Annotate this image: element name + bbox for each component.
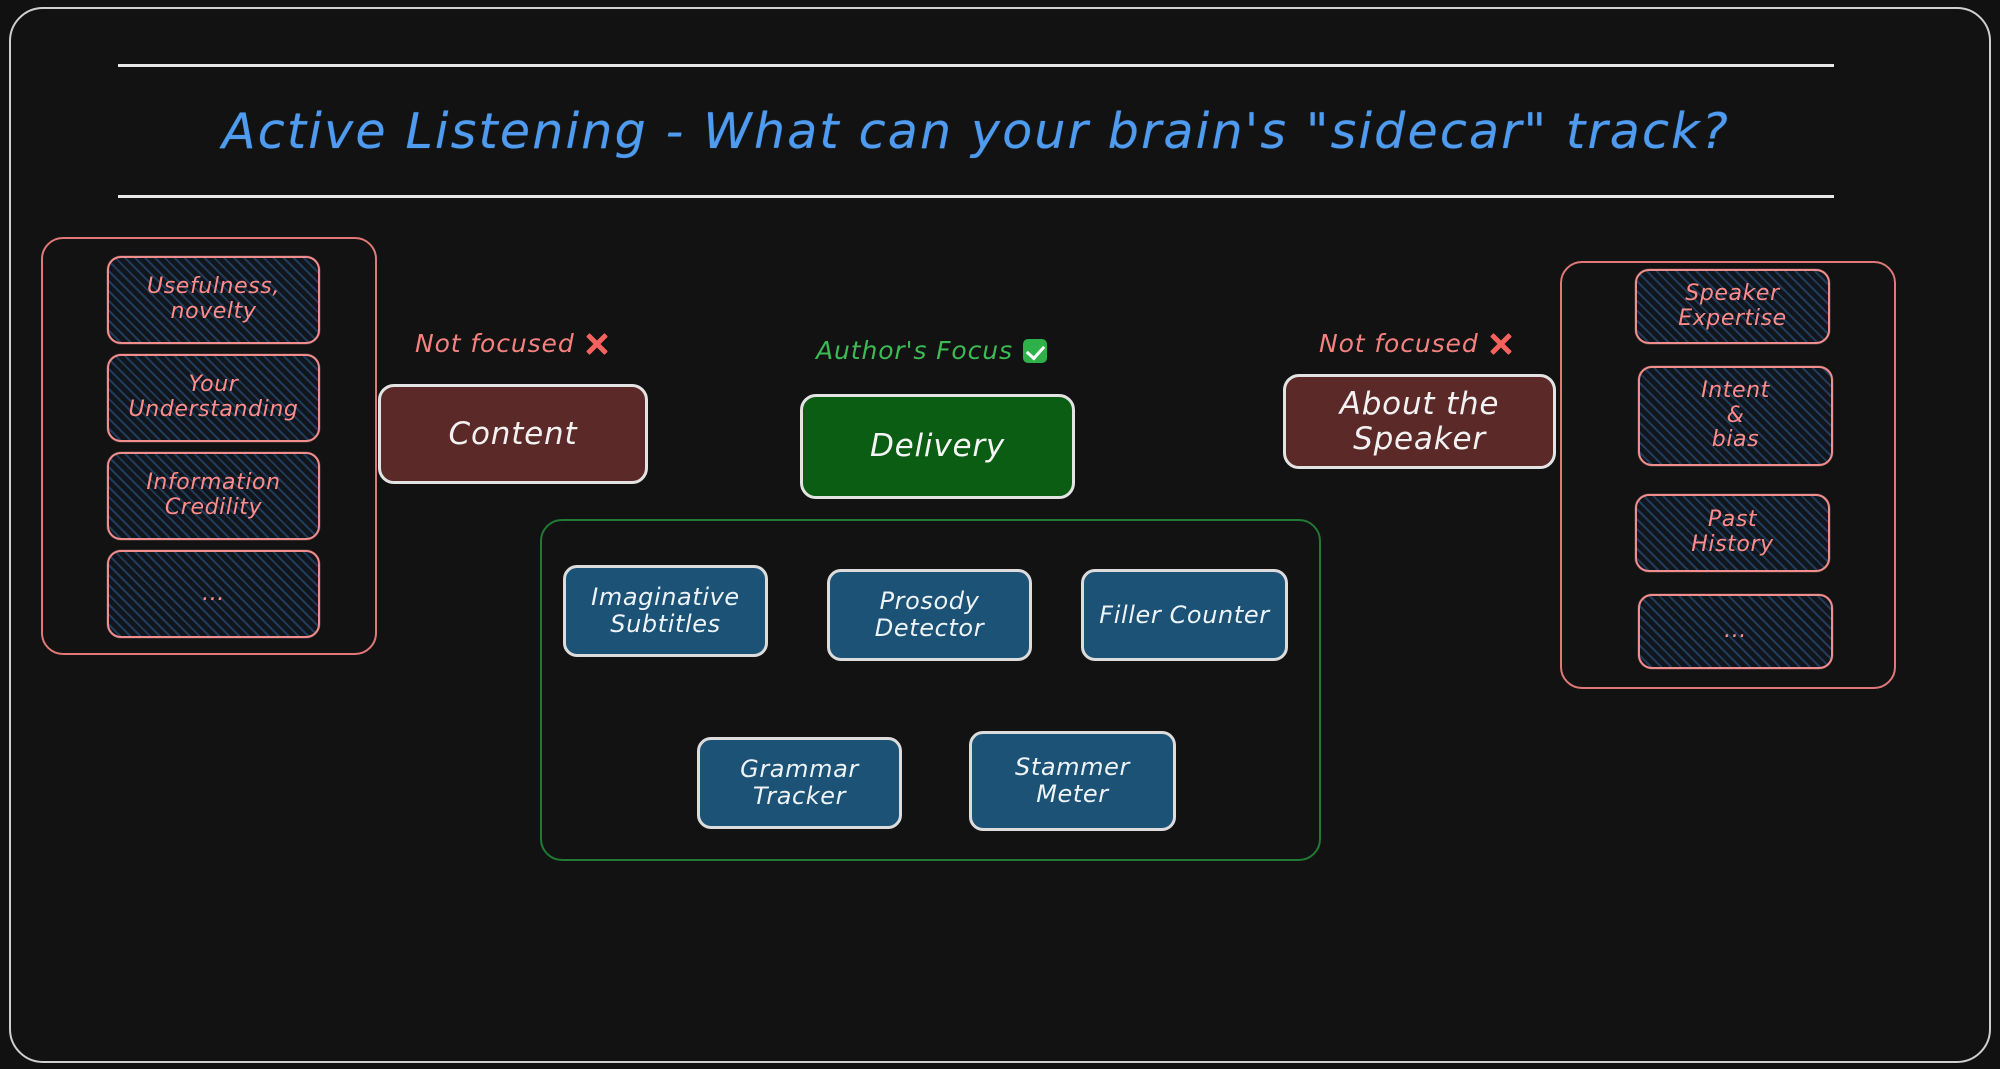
diagram-canvas: Active Listening - What can your brain's… <box>0 0 2000 1069</box>
delivery-caption-label: Author's Focus <box>816 336 1013 365</box>
speaker-caption: Not focused <box>1319 329 1513 358</box>
speaker-detail-box[interactable]: Past History <box>1635 494 1830 572</box>
delivery-feature-box[interactable]: Stammer Meter <box>969 731 1176 831</box>
speaker-caption-label: Not focused <box>1319 329 1479 358</box>
content-caption: Not focused <box>415 329 609 358</box>
cross-mark-icon <box>585 332 609 356</box>
cross-mark-icon <box>1489 332 1513 356</box>
speaker-detail-box-more[interactable]: ... <box>1638 594 1833 669</box>
delivery-feature-box[interactable]: Prosody Detector <box>827 569 1032 661</box>
delivery-category-box[interactable]: Delivery <box>800 394 1075 499</box>
content-category-box[interactable]: Content <box>378 384 648 484</box>
page-title: Active Listening - What can your brain's… <box>118 64 1834 198</box>
delivery-caption: Author's Focus <box>816 336 1047 365</box>
content-detail-box[interactable]: Your Understanding <box>107 354 320 442</box>
delivery-feature-box[interactable]: Grammar Tracker <box>697 737 902 829</box>
content-detail-box[interactable]: Information Credility <box>107 452 320 540</box>
delivery-feature-box[interactable]: Filler Counter <box>1081 569 1288 661</box>
content-caption-label: Not focused <box>415 329 575 358</box>
title-rule-bottom <box>118 195 1834 198</box>
diagram-frame: Active Listening - What can your brain's… <box>9 7 1991 1063</box>
speaker-category-box[interactable]: About the Speaker <box>1283 374 1556 469</box>
speaker-detail-box[interactable]: Speaker Expertise <box>1635 269 1830 344</box>
title-block: Active Listening - What can your brain's… <box>118 64 1834 198</box>
delivery-feature-box[interactable]: Imaginative Subtitles <box>563 565 768 657</box>
speaker-detail-box[interactable]: Intent & bias <box>1638 366 1833 466</box>
content-detail-box[interactable]: Usefulness, novelty <box>107 256 320 344</box>
content-detail-box-more[interactable]: ... <box>107 550 320 638</box>
check-mark-icon <box>1023 339 1047 363</box>
